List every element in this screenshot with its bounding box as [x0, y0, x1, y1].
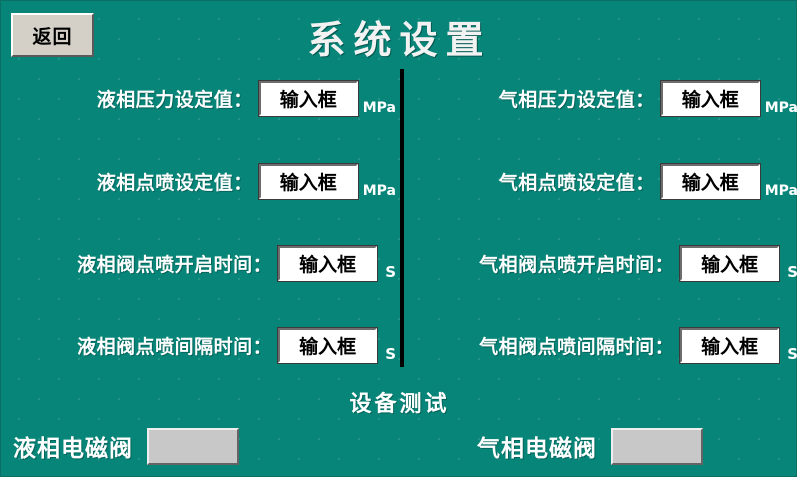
label-gas-valve-interval-time: 气相阀点喷间隔时间：	[479, 332, 674, 359]
input-liquid-spray-setpoint[interactable]: 输入框	[259, 164, 358, 199]
unit-gas-valve-interval-time: S	[787, 345, 797, 364]
label-gas-pressure: 气相压力设定值：	[499, 85, 655, 112]
control-gas-solenoid-valve: 气相电磁阀	[477, 426, 703, 466]
form-row-liquid-pressure: 液相压力设定值： 输入框 MPa	[1, 79, 396, 117]
input-gas-valve-open-time[interactable]: 输入框	[680, 246, 779, 281]
unit-liquid-spray-setpoint: MPa	[363, 183, 396, 200]
input-gas-spray-setpoint[interactable]: 输入框	[661, 164, 760, 199]
label-liquid-solenoid-valve: 液相电磁阀	[13, 429, 133, 463]
control-liquid-solenoid-valve: 液相电磁阀	[13, 426, 239, 466]
form-row-gas-pressure: 气相压力设定值： 输入框 MPa	[405, 79, 797, 117]
unit-liquid-pressure: MPa	[363, 100, 396, 117]
section-title-device-test: 设备测试	[1, 386, 797, 418]
label-gas-valve-open-time: 气相阀点喷开启时间：	[479, 250, 674, 277]
label-liquid-spray-setpoint: 液相点喷设定值：	[97, 168, 253, 195]
label-liquid-valve-open-time: 液相阀点喷开启时间：	[77, 250, 272, 277]
input-liquid-valve-interval-time[interactable]: 输入框	[278, 328, 377, 363]
form-row-liquid-valve-open-time: 液相阀点喷开启时间： 输入框 S	[1, 244, 396, 282]
input-liquid-valve-open-time[interactable]: 输入框	[278, 246, 377, 281]
input-liquid-pressure[interactable]: 输入框	[259, 81, 358, 116]
form-row-liquid-valve-interval-time: 液相阀点喷间隔时间： 输入框 S	[1, 326, 396, 364]
unit-liquid-valve-open-time: S	[385, 263, 396, 282]
input-gas-pressure[interactable]: 输入框	[661, 81, 760, 116]
form-row-gas-valve-open-time: 气相阀点喷开启时间： 输入框 S	[405, 244, 797, 282]
column-divider	[400, 69, 404, 367]
button-gas-solenoid-valve[interactable]	[611, 428, 703, 465]
label-gas-spray-setpoint: 气相点喷设定值：	[499, 168, 655, 195]
label-gas-solenoid-valve: 气相电磁阀	[477, 429, 597, 463]
label-liquid-pressure: 液相压力设定值：	[97, 85, 253, 112]
unit-gas-spray-setpoint: MPa	[765, 183, 797, 200]
form-row-gas-spray-setpoint: 气相点喷设定值： 输入框 MPa	[405, 162, 797, 200]
unit-gas-pressure: MPa	[765, 100, 797, 117]
page-title: 系统设置	[1, 9, 797, 64]
unit-liquid-valve-interval-time: S	[385, 345, 396, 364]
label-liquid-valve-interval-time: 液相阀点喷间隔时间：	[77, 332, 272, 359]
form-row-gas-valve-interval-time: 气相阀点喷间隔时间： 输入框 S	[405, 326, 797, 364]
unit-gas-valve-open-time: S	[787, 263, 797, 282]
form-row-liquid-spray-setpoint: 液相点喷设定值： 输入框 MPa	[1, 162, 396, 200]
input-gas-valve-interval-time[interactable]: 输入框	[680, 328, 779, 363]
system-settings-screen: 返回 系统设置 液相压力设定值： 输入框 MPa 液相点喷设定值： 输入框 MP…	[0, 0, 797, 477]
button-liquid-solenoid-valve[interactable]	[147, 428, 239, 465]
